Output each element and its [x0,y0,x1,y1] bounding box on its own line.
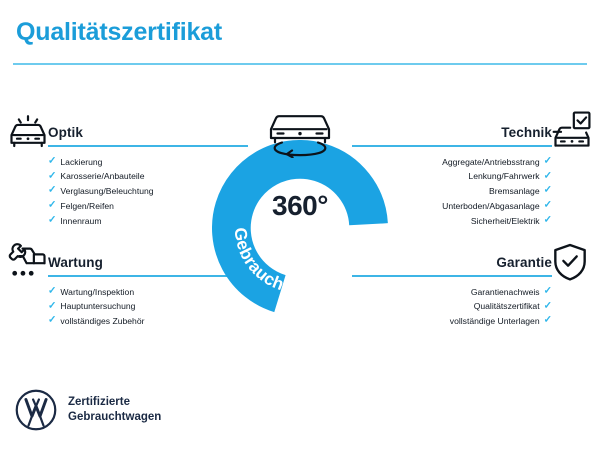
list-item-label: Hauptuntersuchung [60,299,135,314]
check-icon: ✓ [48,301,56,311]
list-item-label: Sicherheit/Elektrik [471,214,540,229]
list-item: vollständige Unterlagen✓ [352,314,552,329]
car-rotate-360-icon [262,104,338,158]
list-item-label: Lackierung [60,155,102,170]
car-service-wrench-icon [6,238,50,282]
list-item-label: Felgen/Reifen [60,199,114,214]
list-item-label: Verglasung/Beleuchtung [60,184,153,199]
check-icon: ✓ [48,156,56,166]
certificate-page: Qualitätszertifikat Optik ✓Lackierung ✓K… [0,0,600,450]
check-icon: ✓ [544,201,552,211]
page-title: Qualitätszertifikat [16,18,222,47]
vw-logo-icon [14,388,58,432]
list-item-label: Unterboden/Abgasanlage [442,199,539,214]
title-divider [13,63,587,65]
list-item-label: Bremsanlage [489,184,540,199]
check-icon: ✓ [48,216,56,226]
list-item-label: Garantienachweis [471,285,540,300]
check-icon: ✓ [544,186,552,196]
list-item-label: Wartung/Inspektion [60,285,134,300]
list-item-label: Qualitätszertifikat [474,299,540,314]
list-item: ✓vollständiges Zubehör [48,314,248,329]
list-item-label: Karosserie/Anbauteile [60,169,144,184]
list-item-label: Lenkung/Fahrwerk [468,169,539,184]
list-item-label: Innenraum [60,214,101,229]
vw-footer-line1: Zertifizierte [68,395,161,410]
car-checkbox-icon [550,108,594,152]
vw-footer-text: Zertifizierte Gebrauchtwagen [68,395,161,426]
check-icon: ✓ [544,216,552,226]
car-shine-icon [6,108,50,152]
check-icon: ✓ [48,316,56,326]
check-icon: ✓ [544,301,552,311]
list-item-label: vollständige Unterlagen [450,314,540,329]
check-icon: ✓ [544,316,552,326]
list-item-label: Aggregate/Antriebsstrang [442,155,539,170]
check-icon: ✓ [48,201,56,211]
check-icon: ✓ [544,156,552,166]
check-icon: ✓ [48,286,56,296]
check-icon: ✓ [48,171,56,181]
list-item-label: vollständiges Zubehör [60,314,144,329]
check-icon: ✓ [48,186,56,196]
vw-footer: Zertifizierte Gebrauchtwagen [14,388,161,432]
check-icon: ✓ [544,171,552,181]
gebrauchtwagen-check-badge: Gebrauchtwagen-Check [212,140,388,316]
badge-center-label: 360° [212,190,388,222]
check-icon: ✓ [544,286,552,296]
vw-footer-line2: Gebrauchtwagen [68,410,161,425]
shield-check-icon [548,240,592,284]
